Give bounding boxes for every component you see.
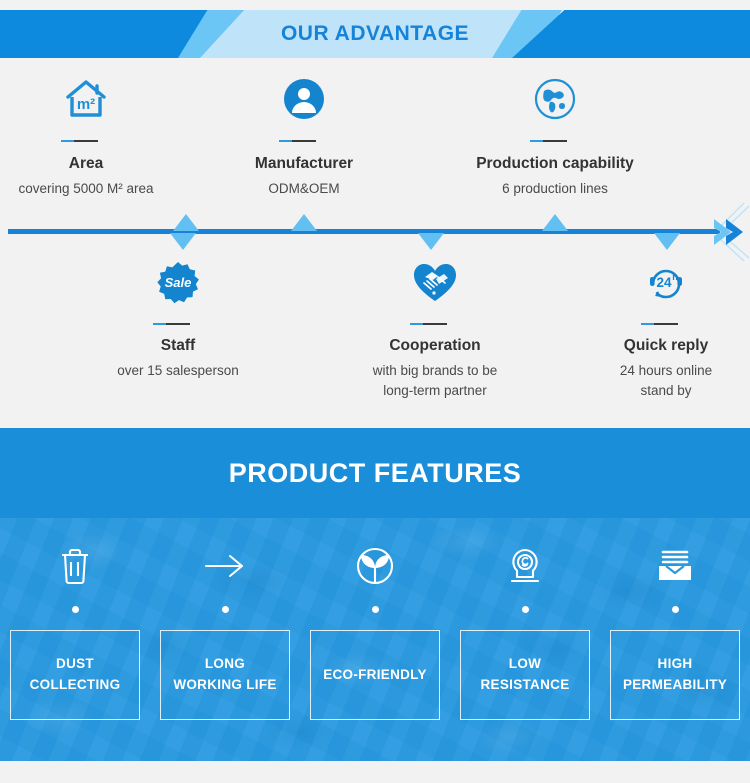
feature-eco-friendly[interactable]: ECO-FRIENDLY: [300, 518, 450, 761]
timeline-marker-down-1: [170, 233, 196, 250]
item-rule: [423, 323, 447, 325]
eco-leaf-circle-icon: [300, 540, 450, 592]
advantage-item-quick-reply: 24 h Quick reply 24 hours online stand b…: [578, 253, 750, 400]
svg-text:24: 24: [656, 275, 672, 290]
person-circle-icon: [215, 70, 393, 128]
advantage-item-production-capability: Production capability 6 production lines: [445, 70, 665, 199]
timeline-marker-up-3: [542, 214, 568, 231]
svg-text:h: h: [672, 272, 678, 282]
timeline-marker-up-2: [291, 214, 317, 231]
feature-label-box[interactable]: DUST COLLECTING: [10, 630, 140, 720]
timeline-marker-down-3: [654, 233, 680, 250]
promo-page: OUR ADVANTAGE: [0, 0, 750, 783]
advantage-item-desc: with big brands to be long-term partner: [345, 361, 525, 400]
house-square-meter-icon: m²: [0, 70, 172, 128]
feature-label: ECO-FRIENDLY: [323, 665, 427, 686]
trash-bin-icon: [0, 540, 150, 592]
advantage-item-title: Quick reply: [578, 337, 750, 355]
handshake-heart-icon: [345, 253, 525, 311]
advantage-item-area: m² Area covering 5000 M² area: [0, 70, 172, 199]
advantage-item-desc: 24 hours online stand by: [578, 361, 750, 400]
timeline-marker-down-2: [418, 233, 444, 250]
feature-high-permeability[interactable]: HIGH PERMEABILITY: [600, 518, 750, 761]
page-footer-spacer: [0, 761, 750, 783]
feature-label: DUST COLLECTING: [30, 654, 121, 696]
feature-dot: [372, 606, 379, 613]
advantage-item-desc: covering 5000 M² area: [0, 179, 172, 199]
advantage-item-title: Production capability: [445, 155, 665, 173]
feature-label-box[interactable]: LOW RESISTANCE: [460, 630, 590, 720]
right-arrow-icon: [150, 540, 300, 592]
advantage-item-title: Staff: [92, 337, 264, 355]
item-rule: [166, 323, 190, 325]
feature-dot: [672, 606, 679, 613]
globe-icon: [445, 70, 665, 128]
feature-label: LONG WORKING LIFE: [173, 654, 276, 696]
item-rule: [292, 140, 316, 142]
layered-filter-icon: [600, 540, 750, 592]
product-features-title: PRODUCT FEATURES: [229, 458, 522, 489]
advantage-item-cooperation: Cooperation with big brands to be long-t…: [345, 253, 525, 400]
feature-low-resistance[interactable]: LOW RESISTANCE: [450, 518, 600, 761]
feature-label: HIGH PERMEABILITY: [623, 654, 727, 696]
feature-dust-collecting[interactable]: DUST COLLECTING: [0, 518, 150, 761]
feature-label-box[interactable]: HIGH PERMEABILITY: [610, 630, 740, 720]
sale-badge-icon: Sale: [92, 253, 264, 311]
svg-text:m²: m²: [77, 96, 95, 113]
timeline-marker-up-1: [173, 214, 199, 231]
feature-label-box[interactable]: LONG WORKING LIFE: [160, 630, 290, 720]
product-features-header: PRODUCT FEATURES: [0, 428, 750, 518]
feature-label: LOW RESISTANCE: [480, 654, 569, 696]
advantage-item-desc: 6 production lines: [445, 179, 665, 199]
our-advantage-banner: OUR ADVANTAGE: [0, 10, 750, 58]
feature-label-box[interactable]: ECO-FRIENDLY: [310, 630, 440, 720]
advantage-item-desc: ODM&OEM: [215, 179, 393, 199]
timeline-line: [8, 229, 720, 234]
advantage-item-title: Area: [0, 155, 172, 173]
pressure-gauge-icon: [450, 540, 600, 592]
advantage-item-title: Manufacturer: [215, 155, 393, 173]
advantage-item-staff: Sale Staff over 15 salesperson: [92, 253, 264, 381]
svg-text:Sale: Sale: [165, 275, 192, 290]
item-rule: [543, 140, 567, 142]
advantage-item-manufacturer: Manufacturer ODM&OEM: [215, 70, 393, 199]
product-features-section: DUST COLLECTING LONG WORKING LIFE: [0, 518, 750, 761]
item-rule: [74, 140, 98, 142]
advantage-item-title: Cooperation: [345, 337, 525, 355]
twenty-four-hour-icon: 24 h: [578, 253, 750, 311]
our-advantage-title: OUR ADVANTAGE: [0, 10, 750, 58]
item-rule: [654, 323, 678, 325]
feature-dot: [222, 606, 229, 613]
feature-dot: [522, 606, 529, 613]
feature-long-working-life[interactable]: LONG WORKING LIFE: [150, 518, 300, 761]
advantage-section: m² Area covering 5000 M² area Manufactur…: [0, 58, 750, 428]
advantage-item-desc: over 15 salesperson: [92, 361, 264, 381]
feature-dot: [72, 606, 79, 613]
